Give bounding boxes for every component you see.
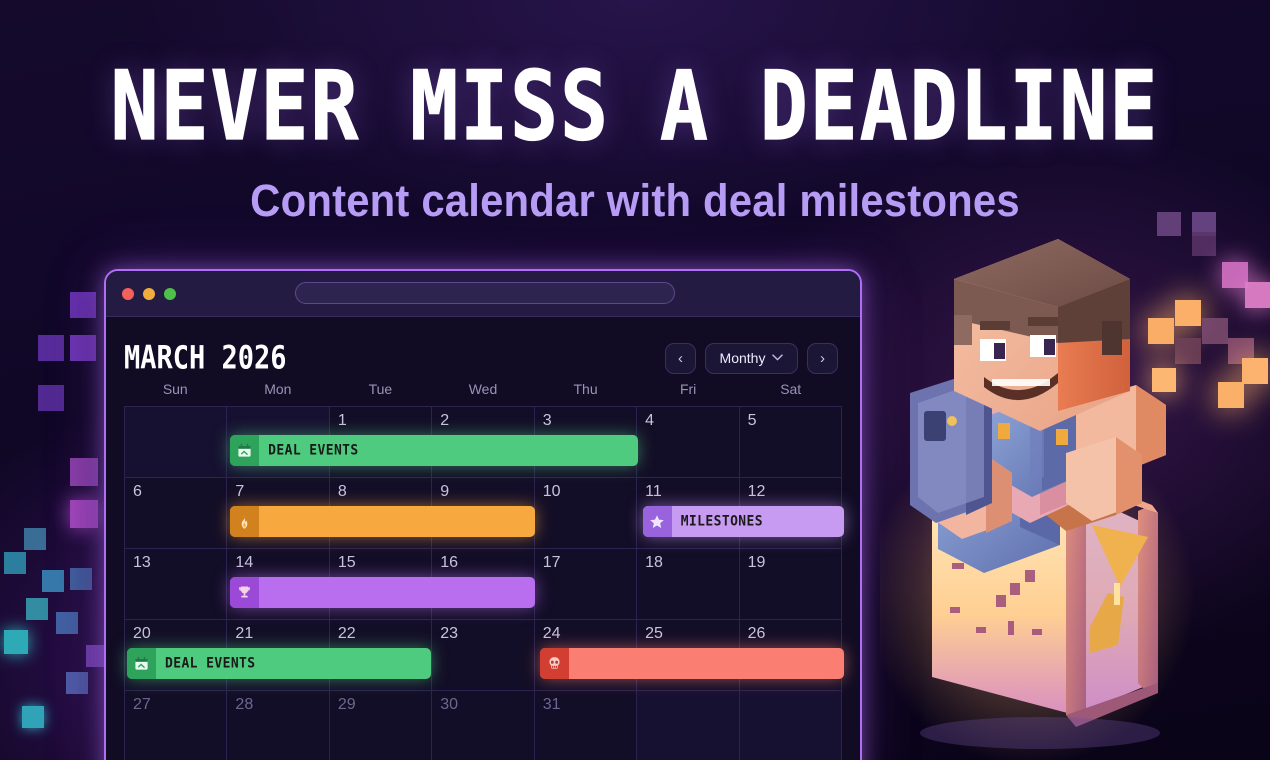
day-number: 19	[748, 554, 766, 572]
pixel-square	[70, 335, 96, 361]
calendar-controls: ‹ Monthy ›	[665, 343, 838, 374]
pixel-square	[42, 570, 64, 592]
calendar-week-row: 12345DEAL EVENTS	[125, 407, 842, 478]
address-bar-input[interactable]	[295, 282, 675, 304]
pixel-square	[4, 630, 28, 654]
weekday-header-sun: Sun	[124, 381, 227, 406]
day-number: 21	[235, 625, 253, 643]
pixel-square	[1192, 232, 1216, 256]
calendar-day-cell[interactable]: 29	[330, 691, 432, 760]
calendar-day-cell[interactable]: 13	[125, 549, 227, 620]
prev-month-button[interactable]: ‹	[665, 343, 696, 374]
calendar-day-cell[interactable]: 10	[535, 478, 637, 549]
weekday-header-fri: Fri	[637, 381, 740, 406]
chevron-down-icon	[772, 353, 783, 364]
calendar-week-row: 2728293031	[125, 691, 842, 760]
pixel-square	[1175, 338, 1201, 364]
pixel-square	[38, 385, 64, 411]
calendar-icon	[127, 648, 156, 679]
pixel-square	[70, 568, 92, 590]
traffic-lights	[122, 288, 176, 300]
day-number: 24	[543, 625, 561, 643]
view-mode-select[interactable]: Monthy	[705, 343, 798, 374]
calendar-day-cell[interactable]: 18	[637, 549, 739, 620]
flame-icon	[230, 506, 259, 537]
weekday-header-mon: Mon	[227, 381, 330, 406]
mascot-illustration	[880, 215, 1220, 760]
skull-icon	[540, 648, 569, 679]
mascot-right-arm	[1066, 385, 1166, 521]
day-number: 26	[748, 625, 766, 643]
browser-titlebar	[106, 271, 860, 317]
calendar-event-bar[interactable]	[230, 577, 534, 608]
mascot-head	[954, 239, 1130, 431]
maximize-icon[interactable]	[164, 288, 176, 300]
weekday-header-thu: Thu	[534, 381, 637, 406]
pixel-square	[70, 458, 98, 486]
pixel-square	[70, 500, 98, 528]
day-number: 22	[338, 625, 356, 643]
day-number: 30	[440, 696, 458, 714]
hourglass-icon	[920, 477, 1160, 749]
page-subtitle: Content calendar with deal milestones	[44, 176, 1225, 226]
pixel-square	[1152, 368, 1176, 392]
view-mode-label: Monthy	[720, 350, 766, 366]
day-number: 6	[133, 483, 142, 501]
calendar-app: MARCH 2026 ‹ Monthy › SunMonTueWedThuFri…	[106, 317, 860, 760]
calendar-event-bar[interactable]: DEAL EVENTS	[230, 435, 638, 466]
weekday-header-sat: Sat	[739, 381, 842, 406]
calendar-event-label: DEAL EVENTS	[259, 442, 359, 459]
day-number: 7	[235, 483, 244, 501]
day-number: 17	[543, 554, 561, 572]
day-number: 14	[235, 554, 253, 572]
calendar-event-bar[interactable]: MILESTONES	[643, 506, 844, 537]
calendar-day-cell[interactable]: 30	[432, 691, 534, 760]
calendar-icon	[230, 435, 259, 466]
pixel-square	[1218, 382, 1244, 408]
pixel-square	[70, 292, 96, 318]
pixel-square	[4, 552, 26, 574]
day-number: 12	[748, 483, 766, 501]
mascot-torso	[966, 383, 1094, 523]
hero-text-block: NEVER MISS A DEADLINE Content calendar w…	[0, 56, 1270, 226]
pixel-square	[1245, 282, 1270, 308]
mascot-legs	[938, 445, 1116, 573]
calendar-toolbar: MARCH 2026 ‹ Monthy ›	[106, 317, 860, 379]
calendar-day-cell[interactable]: 4	[637, 407, 739, 478]
month-title: MARCH 2026	[124, 340, 287, 377]
calendar-event-label: MILESTONES	[672, 513, 763, 530]
calendar-day-cell[interactable]: 19	[740, 549, 842, 620]
day-number: 2	[440, 412, 449, 430]
star-icon	[643, 506, 672, 537]
calendar-event-bar[interactable]	[230, 506, 534, 537]
weekday-header-tue: Tue	[329, 381, 432, 406]
calendar-week-row: 13141516171819	[125, 549, 842, 620]
phone-icon	[910, 375, 992, 523]
pixel-square	[22, 706, 44, 728]
mascot-left-arm	[936, 455, 1012, 539]
calendar-day-cell[interactable]: 28	[227, 691, 329, 760]
minimize-icon[interactable]	[143, 288, 155, 300]
day-number: 27	[133, 696, 151, 714]
calendar-day-cell[interactable]: 5	[740, 407, 842, 478]
day-number: 15	[338, 554, 356, 572]
pixel-square	[1148, 318, 1174, 344]
calendar-cell-empty	[740, 691, 842, 760]
calendar-day-cell[interactable]: 27	[125, 691, 227, 760]
day-number: 23	[440, 625, 458, 643]
day-number: 28	[235, 696, 253, 714]
pixel-square	[66, 672, 88, 694]
calendar-week-row: 6789101112MILESTONES	[125, 478, 842, 549]
day-number: 20	[133, 625, 151, 643]
calendar-cell-empty	[125, 407, 227, 478]
weekday-header-wed: Wed	[432, 381, 535, 406]
calendar-event-bar[interactable]	[540, 648, 844, 679]
close-icon[interactable]	[122, 288, 134, 300]
day-number: 8	[338, 483, 347, 501]
pixel-square	[1175, 300, 1201, 326]
calendar-day-cell[interactable]: 23	[432, 620, 534, 691]
calendar-day-cell[interactable]: 6	[125, 478, 227, 549]
calendar-week-row: 20212223242526DEAL EVENTS	[125, 620, 842, 691]
calendar-grid: 12345DEAL EVENTS6789101112MILESTONES1314…	[124, 406, 842, 760]
day-number: 10	[543, 483, 561, 501]
hero-banner: NEVER MISS A DEADLINE Content calendar w…	[0, 0, 1270, 760]
day-number: 16	[440, 554, 458, 572]
day-number: 13	[133, 554, 151, 572]
day-number: 4	[645, 412, 654, 430]
day-number: 1	[338, 412, 347, 430]
calendar-day-cell[interactable]: 17	[535, 549, 637, 620]
day-number: 3	[543, 412, 552, 430]
next-month-button[interactable]: ›	[807, 343, 838, 374]
browser-window: MARCH 2026 ‹ Monthy › SunMonTueWedThuFri…	[104, 269, 862, 760]
day-number: 11	[645, 483, 662, 501]
calendar-event-bar[interactable]: DEAL EVENTS	[127, 648, 431, 679]
day-number: 29	[338, 696, 356, 714]
weekday-header-row: SunMonTueWedThuFriSat	[106, 381, 860, 406]
day-number: 25	[645, 625, 663, 643]
day-number: 31	[543, 696, 561, 714]
pixel-square	[1242, 358, 1268, 384]
calendar-event-label: DEAL EVENTS	[156, 655, 256, 672]
pixel-square	[38, 335, 64, 361]
day-number: 18	[645, 554, 663, 572]
day-number: 5	[748, 412, 757, 430]
trophy-icon	[230, 577, 259, 608]
calendar-cell-empty	[637, 691, 739, 760]
pixel-square	[26, 598, 48, 620]
page-title: NEVER MISS A DEADLINE	[0, 56, 1270, 158]
pixel-square	[24, 528, 46, 550]
calendar-day-cell[interactable]: 31	[535, 691, 637, 760]
pixel-square	[56, 612, 78, 634]
day-number: 9	[440, 483, 449, 501]
pixel-square	[1202, 318, 1228, 344]
